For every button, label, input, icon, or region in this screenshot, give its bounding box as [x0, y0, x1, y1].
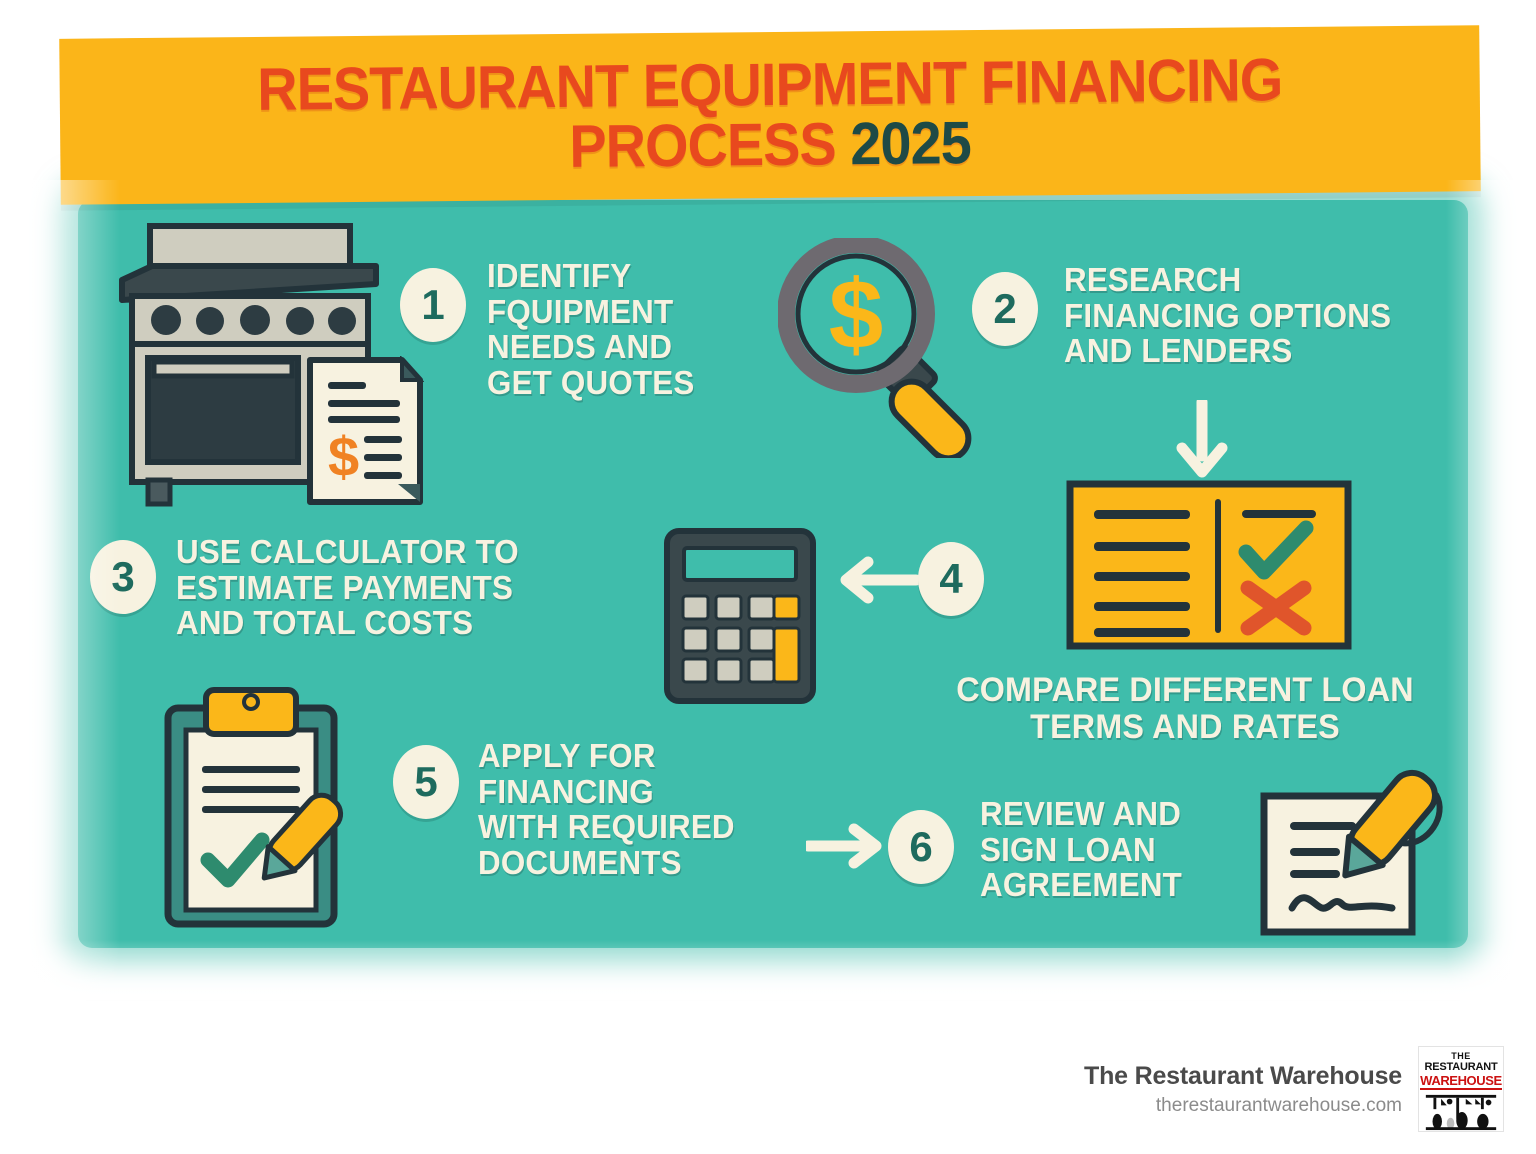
footer-branding: The Restaurant Warehouse therestaurantwa… [1084, 1046, 1504, 1132]
step-4-number-badge: 4 [918, 542, 984, 616]
step-4-label: COMPARE DIFFERENT LOAN TERMS AND RATES [895, 672, 1475, 745]
step-5-number: 5 [414, 758, 437, 806]
arrow-left-icon [838, 555, 920, 605]
title-banner: RESTAURANT EQUIPMENT FINANCING PROCESS 2… [59, 25, 1481, 205]
svg-text:$: $ [829, 259, 884, 369]
clipboard-pencil-icon [162, 682, 362, 932]
step-6-number-badge: 6 [888, 810, 954, 884]
step-5-number-badge: 5 [393, 745, 459, 819]
step-1-label: IDENTIFY FQUIPMENT NEEDS AND GET QUOTES [487, 258, 694, 401]
compare-card-icon [1066, 480, 1352, 650]
signed-document-pen-icon [1248, 752, 1468, 948]
step-2-label: RESEARCH FINANCING OPTIONS AND LENDERS [1064, 262, 1391, 369]
page-title-line1: RESTAURANT EQUIPMENT FINANCING [257, 51, 1283, 118]
step-2-number: 2 [993, 285, 1016, 333]
step-3-label: USE CALCULATOR TO ESTIMATE PAYMENTS AND … [176, 534, 519, 641]
logo-line-1: THE [1451, 1051, 1471, 1061]
logo-line-3: WAREHOUSE [1420, 1073, 1502, 1090]
svg-text:$: $ [328, 425, 359, 488]
step-3-number-badge: 3 [90, 540, 156, 614]
calculator-icon [664, 528, 816, 704]
arrow-down-icon [1172, 400, 1232, 478]
logo-silhouette-art [1422, 1093, 1500, 1131]
step-1-number: 1 [421, 281, 444, 329]
step-3-number: 3 [111, 553, 134, 601]
infographic-canvas: RESTAURANT EQUIPMENT FINANCING PROCESS 2… [0, 0, 1536, 1154]
step-2-number-badge: 2 [972, 272, 1038, 346]
quote-document-icon: $ [306, 356, 424, 506]
step-4-number: 4 [939, 555, 962, 603]
step-6-label: REVIEW AND SIGN LOAN AGREEMENT [980, 796, 1182, 903]
logo-line-2: RESTAURANT [1425, 1061, 1498, 1073]
brand-logo: THE RESTAURANT WAREHOUSE [1418, 1046, 1504, 1132]
page-title-year: 2025 [850, 109, 971, 177]
step-1-number-badge: 1 [400, 268, 466, 342]
page-title-process-word: PROCESS [569, 110, 851, 180]
arrow-right-icon [806, 822, 884, 870]
brand-name: The Restaurant Warehouse [1084, 1062, 1402, 1091]
magnifying-glass-dollar-icon: $ [778, 238, 1008, 458]
step-5-label: APPLY FOR FINANCING WITH REQUIRED DOCUME… [478, 738, 735, 881]
brand-url[interactable]: therestaurantwarehouse.com [1084, 1095, 1402, 1117]
page-title-line2: PROCESS 2025 [569, 114, 971, 175]
step-6-number: 6 [909, 823, 932, 871]
